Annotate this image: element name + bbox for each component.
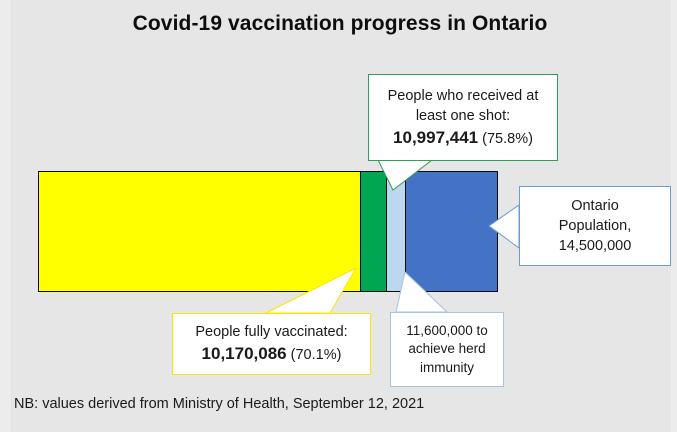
callout-herd-line1: 11,600,000 to xyxy=(406,322,488,341)
callout-fully-vaccinated: People fully vaccinated: 10,170,086 (70.… xyxy=(172,313,371,375)
callout-herd-line3: immunity xyxy=(420,359,474,378)
callout-one-shot-line2: least one shot: xyxy=(416,106,510,126)
slide-canvas: Covid-19 vaccination progress in Ontario… xyxy=(0,0,677,432)
callout-fully-vaccinated-line1: People fully vaccinated: xyxy=(195,322,347,342)
right-margin-strip xyxy=(671,0,677,432)
callout-fully-vaccinated-value: 10,170,086 xyxy=(202,344,287,363)
callout-one-shot-percent: (75.8%) xyxy=(478,131,533,147)
left-margin-strip xyxy=(0,0,12,432)
callout-one-shot-line1: People who received at xyxy=(388,86,539,106)
bar-segment-one-shot-only xyxy=(360,172,386,291)
callout-population-line2: Population, xyxy=(559,216,632,236)
callout-one-shot-value: 10,997,441 xyxy=(393,128,478,147)
callout-one-shot-value-row: 10,997,441 (75.8%) xyxy=(393,126,533,149)
callout-fully-vaccinated-percent: (70.1%) xyxy=(287,347,342,363)
callout-population-line3: 14,500,000 xyxy=(559,236,632,256)
callout-one-shot: People who received at least one shot: 1… xyxy=(368,74,558,161)
bar-segment-fully-vaccinated xyxy=(39,172,360,291)
callout-herd-line2: achieve herd xyxy=(408,340,485,359)
footer-note: NB: values derived from Ministry of Heal… xyxy=(14,396,424,412)
bar-segment-remaining-population xyxy=(405,172,497,291)
callout-ontario-population: Ontario Population, 14,500,000 xyxy=(519,186,671,266)
callout-population-line1: Ontario xyxy=(571,196,619,216)
callout-fully-vaccinated-value-row: 10,170,086 (70.1%) xyxy=(202,342,342,365)
page-title: Covid-19 vaccination progress in Ontario xyxy=(60,10,620,38)
callout-herd-immunity: 11,600,000 to achieve herd immunity xyxy=(390,312,504,387)
stacked-bar-chart xyxy=(38,171,498,292)
bar-segment-to-herd-immunity xyxy=(386,172,405,291)
